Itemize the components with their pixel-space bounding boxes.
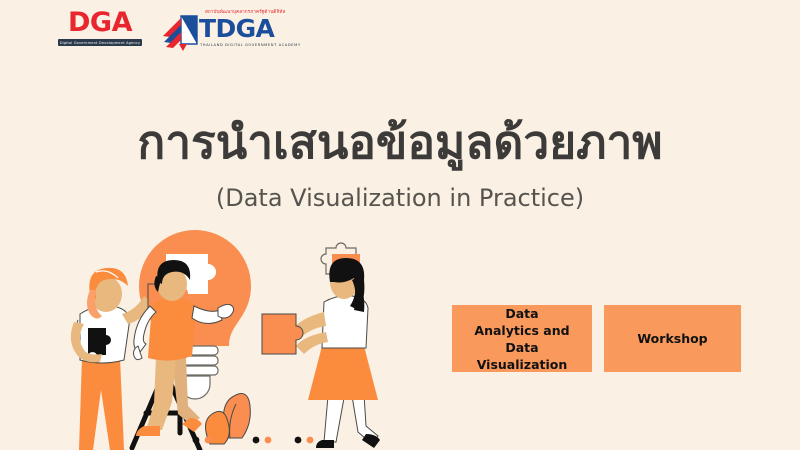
tdga-tagline: THAILAND DIGITAL GOVERNMENT ACADEMY bbox=[199, 42, 297, 48]
tdga-text-block: สถาบันพัฒนาบุคลากรภาครัฐด้านดิจิทัล TDGA… bbox=[199, 10, 297, 48]
badge-workshop: Workshop bbox=[604, 305, 741, 372]
tdga-logo: สถาบันพัฒนาบุคลากรภาครัฐด้านดิจิทัล TDGA… bbox=[161, 8, 296, 58]
dga-tagline: Digital Government Development Agency bbox=[58, 39, 142, 46]
dga-logo: DGA Digital Government Development Agenc… bbox=[58, 8, 142, 52]
slide-subtitle: (Data Visualization in Practice) bbox=[0, 182, 800, 214]
logo-bar: DGA Digital Government Development Agenc… bbox=[58, 8, 296, 58]
woman-with-puzzle-piece-figure bbox=[262, 258, 380, 448]
teamwork-puzzle-lightbulb-illustration bbox=[60, 228, 440, 450]
dga-wordmark: DGA bbox=[58, 8, 142, 38]
badge-data-analytics-visualization: Data Analytics and Data Visualization bbox=[452, 305, 592, 372]
potted-plant-icon bbox=[205, 394, 250, 444]
slide-title: การนำเสนอข้อมูลด้วยภาพ bbox=[0, 114, 800, 170]
presentation-slide: DGA Digital Government Development Agenc… bbox=[0, 0, 800, 450]
tdga-wordmark: TDGA bbox=[199, 16, 297, 42]
